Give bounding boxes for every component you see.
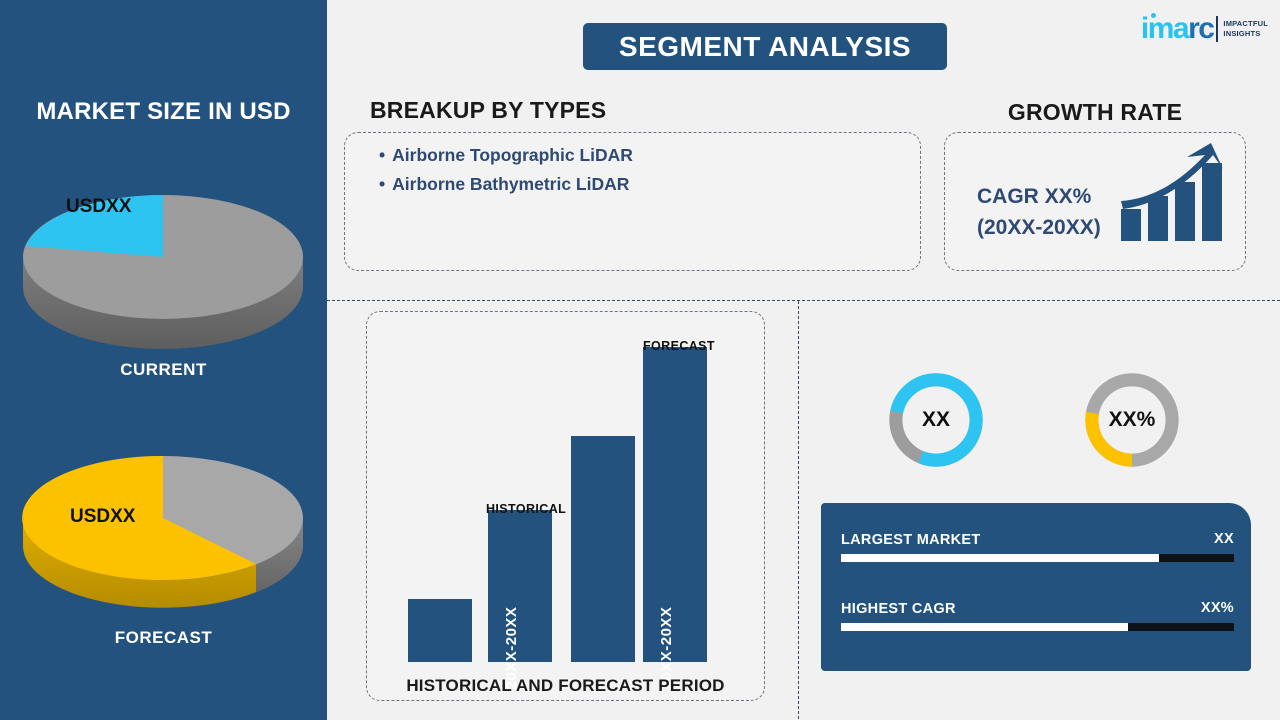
logo-text-part1: ima [1141, 12, 1188, 45]
cagr-period: (20XX-20XX) [977, 212, 1101, 243]
metric-progress-track [841, 623, 1234, 631]
donut-volume-label: XX [883, 367, 989, 473]
metric-value: XX% [1201, 600, 1234, 616]
donut-growth-label: XX% [1079, 367, 1185, 473]
sidebar-title: MARKET SIZE IN USD [0, 98, 327, 126]
donut-chart-growth: XX% [1079, 367, 1185, 473]
bar: 20XX-20XX [488, 510, 552, 662]
growth-arrow-bars-icon [1119, 143, 1231, 246]
bar-annotation-historical: HISTORICAL [486, 502, 566, 516]
metric-value: XX [1214, 531, 1234, 547]
page-title-badge: SEGMENT ANALYSIS [583, 23, 947, 70]
pie-current-caption: CURRENT [0, 360, 327, 380]
logo-wordmark: imarc [1141, 14, 1214, 44]
pie-chart-forecast: USDXX [18, 440, 308, 615]
logo-tagline-line1: IMPACTFUL [1223, 19, 1268, 29]
logo-tagline: IMPACTFUL INSIGHTS [1223, 19, 1268, 39]
donut-chart-volume: XX [883, 367, 989, 473]
growth-rate-heading: GROWTH RATE [944, 99, 1246, 126]
pie-forecast-caption: FORECAST [0, 628, 327, 648]
metric-header: LARGEST MARKET XX [841, 528, 1234, 548]
metric-highest-cagr: HIGHEST CAGR XX% [841, 597, 1234, 631]
pie-chart-forecast-svg [18, 440, 308, 615]
cagr-text: CAGR XX% (20XX-20XX) [977, 181, 1101, 243]
market-size-sidebar: MARKET SIZE IN USD USDXX CURREN [0, 0, 327, 720]
bar-annotation-forecast: FORECAST [643, 339, 715, 353]
segment-analysis-infographic: MARKET SIZE IN USD USDXX CURREN [0, 0, 1280, 720]
types-list: Airborne Topographic LiDAR Airborne Bath… [379, 141, 908, 199]
logo-dot-icon [1151, 13, 1156, 18]
page-title: SEGMENT ANALYSIS [619, 31, 911, 63]
metric-label: LARGEST MARKET [841, 532, 981, 548]
metric-progress-fill [841, 554, 1159, 562]
list-item: Airborne Bathymetric LiDAR [379, 170, 908, 199]
chart-x-axis-label: HISTORICAL AND FORECAST PERIOD [366, 676, 765, 696]
logo-tagline-line2: INSIGHTS [1223, 29, 1268, 39]
key-metrics-card: LARGEST MARKET XX HIGHEST CAGR XX% [821, 503, 1251, 671]
metric-largest-market: LARGEST MARKET XX [841, 528, 1234, 562]
list-item: Airborne Topographic LiDAR [379, 141, 908, 170]
pie-chart-current-svg [18, 165, 308, 350]
metric-progress-track [841, 554, 1234, 562]
cagr-value: CAGR XX% [977, 181, 1101, 212]
metric-progress-fill [841, 623, 1128, 631]
bar [571, 436, 635, 662]
historical-forecast-bar-chart: 20XX-20XX HISTORICAL 20XX-20XX FORECAST [366, 311, 765, 701]
bar: 20XX-20XX [643, 347, 707, 662]
imarc-logo: imarc IMPACTFUL INSIGHTS [1141, 10, 1268, 48]
breakup-by-types-heading: BREAKUP BY TYPES [370, 97, 606, 124]
horizontal-divider [327, 300, 1280, 301]
breakup-by-types-panel: Airborne Topographic LiDAR Airborne Bath… [344, 132, 921, 271]
logo-text-part2: rc [1188, 12, 1213, 45]
pie-chart-current: USDXX [18, 165, 308, 350]
growth-rate-panel: CAGR XX% (20XX-20XX) [944, 132, 1246, 271]
bar [408, 599, 472, 662]
metric-label: HIGHEST CAGR [841, 601, 956, 617]
logo-divider [1216, 16, 1218, 42]
vertical-divider [798, 301, 799, 719]
metric-header: HIGHEST CAGR XX% [841, 597, 1234, 617]
